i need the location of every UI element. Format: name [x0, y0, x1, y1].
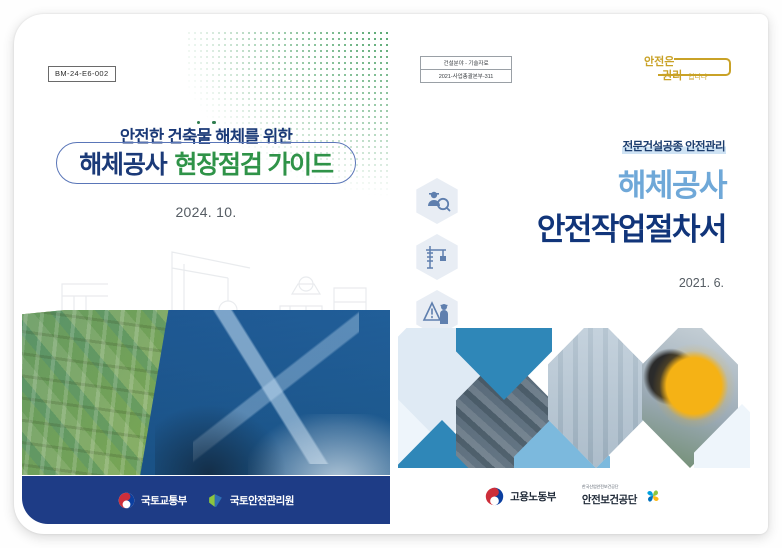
taegeuk-emblem-icon	[485, 487, 504, 506]
safety-is-a-right-badge-icon: 안전은 권리 입니다	[628, 50, 732, 84]
left-cover-page: BM-24-E6-002 안전한 건축물 해체를 위한 해체공사 현장점검 가이…	[22, 28, 390, 524]
logo-kosha-sublabel: 한국산업안전보건공단	[582, 484, 637, 490]
right-cover-photo-mosaic	[398, 328, 750, 480]
code-line-category: 건설분야 - 기술자료	[421, 57, 511, 69]
decorative-dots	[22, 116, 390, 123]
logo-kosha: 한국산업안전보건공단 안전보건공단	[582, 484, 663, 508]
logo-kalis: 국토안전관리원	[207, 492, 294, 509]
right-cover-footer: 고용노동부 한국산업안전보건공단 안전보건공단	[398, 468, 750, 524]
svg-text:입니다: 입니다	[688, 72, 708, 81]
logo-moel-label: 고용노동부	[510, 489, 556, 504]
logo-kalis-label: 국토안전관리원	[230, 493, 294, 508]
svg-text:권리: 권리	[662, 68, 682, 82]
logo-kosha-text: 한국산업안전보건공단 안전보건공단	[582, 484, 637, 508]
left-cover-date: 2024. 10.	[22, 204, 390, 220]
right-cover-kicker: 전문건설공종 안전관리	[622, 138, 726, 154]
code-line-number: 2021-사업총괄본부-311	[421, 69, 511, 82]
right-cover-code-box: 건설분야 - 기술자료 2021-사업총괄본부-311	[420, 56, 512, 83]
right-cover-date: 2021. 6.	[679, 276, 724, 290]
logo-molit: 국토교통부	[118, 492, 187, 509]
left-cover-footer-bar: 국토교통부 국토안전관리원	[22, 476, 390, 524]
left-cover-title-part2: 현장점검 가이드	[174, 145, 332, 181]
logo-molit-label: 국토교통부	[141, 493, 187, 508]
right-cover-title-part1: 해체공사	[618, 160, 726, 205]
logo-kosha-label: 안전보건공단	[582, 494, 637, 506]
document-code-box: BM-24-E6-002	[48, 66, 116, 82]
left-cover-title-part1: 해체공사	[79, 145, 166, 181]
kalis-mark-icon	[207, 492, 224, 509]
excavator-demolition-photo	[134, 310, 390, 475]
tower-crane-icon	[414, 234, 460, 280]
kosha-flower-icon	[643, 486, 663, 506]
worker-inspection-icon	[414, 178, 460, 224]
left-cover-title-pill: 해체공사 현장점검 가이드	[56, 142, 356, 184]
left-cover-photo-collage	[22, 310, 390, 475]
svg-text:안전은: 안전은	[644, 54, 674, 68]
taegeuk-emblem-icon	[118, 492, 135, 509]
right-cover-title-part2: 안전작업절차서	[537, 204, 726, 249]
logo-moel: 고용노동부	[485, 487, 556, 506]
screenshot-canvas: BM-24-E6-002 안전한 건축물 해체를 위한 해체공사 현장점검 가이…	[0, 0, 782, 548]
dust-smoke-overlay	[248, 414, 390, 475]
right-cover-page: 건설분야 - 기술자료 2021-사업총괄본부-311 안전은 권리 입니다 전…	[398, 28, 750, 524]
